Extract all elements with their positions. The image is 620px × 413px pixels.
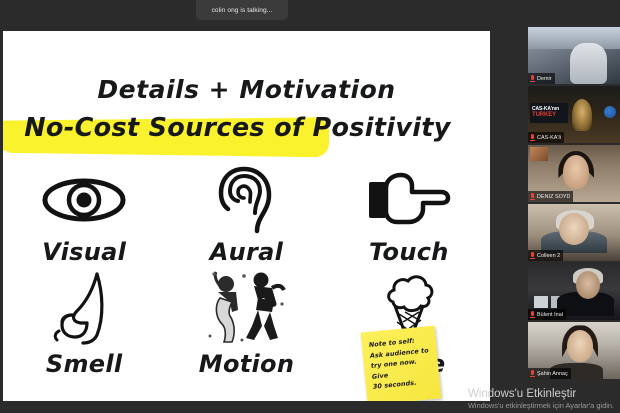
participant-nameplate-3: DENİZ SOYD <box>528 191 573 202</box>
participant-nameplate-5: Bülent İnal <box>528 309 566 320</box>
participant-name-1: Demir <box>537 76 552 82</box>
grid-label-smell: Smell <box>46 352 123 376</box>
mic-muted-icon <box>530 75 535 82</box>
participant-nameplate-1: Demir <box>528 73 555 84</box>
mic-muted-icon <box>530 370 535 377</box>
slide-subtitle: No-Cost Sources of Positivity <box>3 113 490 143</box>
slide-subtitle-group: No-Cost Sources of Positivity <box>3 113 490 143</box>
tile2-logo-shape <box>604 106 616 118</box>
grid-item-aural: Aural <box>165 164 327 264</box>
dancers-icon <box>202 268 290 348</box>
participant-tile-6[interactable]: Şahin Annaç <box>528 322 620 379</box>
participant-nameplate-6: Şahin Annaç <box>528 368 571 379</box>
grid-item-visual: Visual <box>3 164 165 264</box>
participant-filmstrip[interactable]: Demir CAS-KA'nın TURKEY CAS-KA'li <box>528 27 620 387</box>
tile2-overlay-banner: CAS-KA'nın TURKEY <box>530 103 568 123</box>
grid-label-aural: Aural <box>210 240 283 264</box>
grid-label-motion: Motion <box>199 352 294 376</box>
pointing-hand-icon <box>367 164 451 236</box>
mic-muted-icon <box>530 134 535 141</box>
mic-muted-icon <box>530 193 535 200</box>
grid-label-visual: Visual <box>42 240 126 264</box>
mic-muted-icon <box>530 311 535 318</box>
participant-name-6: Şahin Annaç <box>537 371 568 377</box>
grid-item-motion: Motion <box>165 268 327 376</box>
active-speaker-banner: colin ong is talking... <box>196 0 288 20</box>
participant-name-5: Bülent İnal <box>537 312 563 318</box>
participant-tile-4[interactable]: Colleen 2 <box>528 204 620 261</box>
participant-tile-3[interactable]: DENİZ SOYD <box>528 145 620 202</box>
active-speaker-label: colin ong is talking... <box>212 7 273 14</box>
tile2-lamp-shape <box>572 99 592 131</box>
nose-icon <box>49 268 119 348</box>
participant-tile-2[interactable]: CAS-KA'nın TURKEY CAS-KA'li <box>528 86 620 143</box>
participant-name-4: Colleen 2 <box>537 253 560 259</box>
participant-nameplate-2: CAS-KA'li <box>528 132 564 143</box>
grid-item-touch: Touch <box>328 164 490 264</box>
meeting-screen: colin ong is talking... Details + Motiva… <box>0 0 620 413</box>
participant-tile-1[interactable]: Demir <box>528 27 620 84</box>
tile2-overlay-line-2: TURKEY <box>532 112 568 118</box>
participant-tile-5[interactable]: Bülent İnal <box>528 263 620 320</box>
mic-muted-icon <box>530 252 535 259</box>
participant-name-2: CAS-KA'li <box>537 135 561 141</box>
ear-icon <box>215 164 277 236</box>
sticky-note: Note to self: Ask audience to try one no… <box>361 326 442 401</box>
slide-title: Details + Motivation <box>3 75 490 104</box>
participant-nameplate-4: Colleen 2 <box>528 250 563 261</box>
eye-icon <box>41 164 127 236</box>
shared-slide[interactable]: Details + Motivation No-Cost Sources of … <box>3 31 490 401</box>
watermark-subtitle: Windows'u etkinleştirmek için Ayarlar'a … <box>468 401 614 411</box>
participant-name-3: DENİZ SOYD <box>537 194 570 200</box>
grid-item-smell: Smell <box>3 268 165 376</box>
grid-label-touch: Touch <box>369 240 449 264</box>
